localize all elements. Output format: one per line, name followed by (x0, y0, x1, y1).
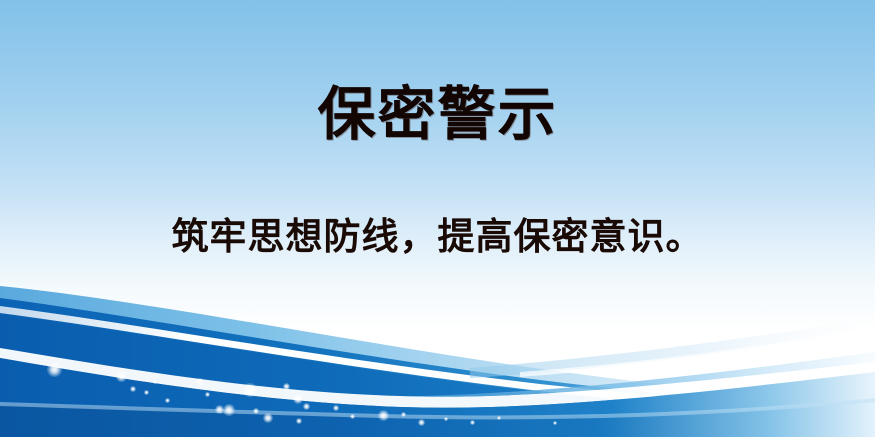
poster-text-layer: 保密警示 筑牢思想防线，提高保密意识。 (0, 0, 875, 437)
poster-subtitle: 筑牢思想防线，提高保密意识。 (0, 212, 875, 262)
secrecy-warning-poster: 保密警示 筑牢思想防线，提高保密意识。 (0, 0, 875, 437)
page-title: 保密警示 (0, 82, 875, 146)
